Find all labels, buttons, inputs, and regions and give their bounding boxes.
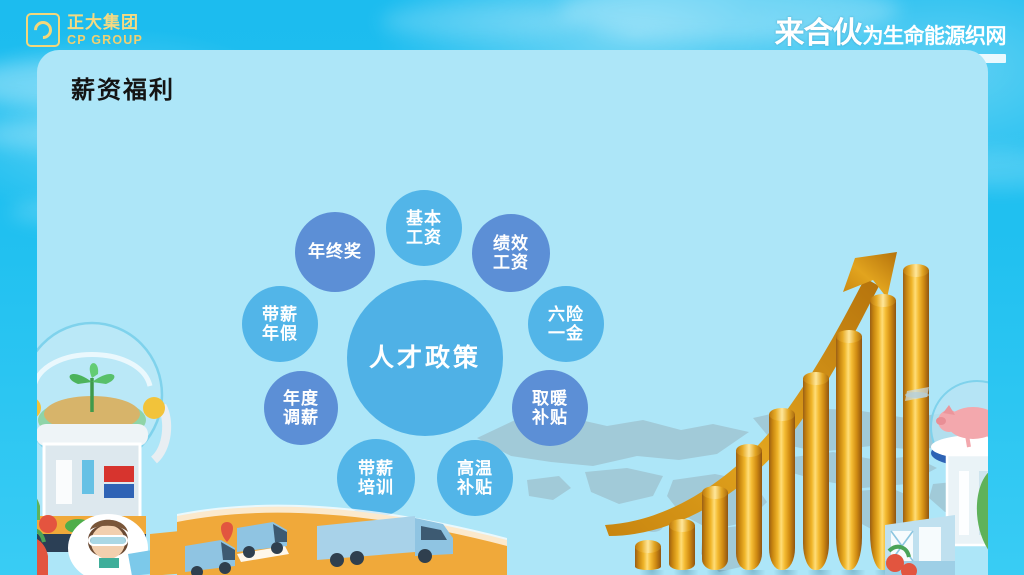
bubble-label-line: 调薪 xyxy=(283,408,319,427)
bubble-label-line: 基本 xyxy=(406,209,442,228)
cloud-decoration xyxy=(380,4,580,38)
brand-name-cn: 正大集团 xyxy=(67,14,143,31)
bubble-label-line: 六险 xyxy=(548,305,584,324)
bubble-3[interactable]: 绩效工资 xyxy=(472,214,550,292)
bubble-label-line: 工资 xyxy=(406,228,442,247)
bubble-1[interactable]: 基本工资 xyxy=(386,190,462,266)
bubble-label-line: 培训 xyxy=(358,478,394,497)
brand-name-en: CP GROUP xyxy=(67,34,143,47)
bubble-label-line: 年假 xyxy=(262,324,298,343)
bubble-6[interactable]: 年度调薪 xyxy=(264,371,338,445)
brand-logo: 正大集团 CP GROUP xyxy=(26,12,143,48)
cp-ring-icon xyxy=(26,13,60,47)
bubble-label-line: 绩效 xyxy=(493,234,529,253)
campaign-tagline: 为生命能源织网 xyxy=(863,20,1007,50)
bubble-label-line: 取暖 xyxy=(532,389,568,408)
bubble-label-line: 补贴 xyxy=(457,478,493,497)
bubble-2[interactable]: 年终奖 xyxy=(295,212,375,292)
bubble-7[interactable]: 取暖补贴 xyxy=(512,370,588,446)
bubble-label-line: 高温 xyxy=(457,459,493,478)
bubble-label-line: 年终奖 xyxy=(308,242,362,261)
bubble-4[interactable]: 带薪年假 xyxy=(242,286,318,362)
bubble-label-line: 工资 xyxy=(493,253,529,272)
bubble-9[interactable]: 高温补贴 xyxy=(437,440,513,516)
campaign-headline: 来合伙 xyxy=(775,8,862,52)
bubble-8[interactable]: 带薪培训 xyxy=(337,439,415,517)
bubble-label-line: 带薪 xyxy=(262,305,298,324)
bubble-label-line: 带薪 xyxy=(358,459,394,478)
bubble-label-line: 年度 xyxy=(283,389,319,408)
content-card: 薪资福利 xyxy=(37,50,988,575)
brand-logo-words: 正大集团 CP GROUP xyxy=(67,14,143,47)
campaign-logo-line: 来合伙 为生命能源织网 xyxy=(775,8,1007,52)
bubble-center-label: 人才政策 xyxy=(369,344,481,372)
bubble-center-talent-policy[interactable]: 人才政策 xyxy=(347,280,503,436)
slide-root: 正大集团 CP GROUP 来合伙 为生命能源织网 正大集团 2023 校园招聘… xyxy=(0,0,1024,575)
bubble-label-line: 一金 xyxy=(548,324,584,343)
bubble-cluster: 人才政策 基本工资年终奖绩效工资带薪年假六险一金年度调薪取暖补贴带薪培训高温补贴 xyxy=(37,50,988,575)
bubble-5[interactable]: 六险一金 xyxy=(528,286,604,362)
bubble-label-line: 补贴 xyxy=(532,408,568,427)
